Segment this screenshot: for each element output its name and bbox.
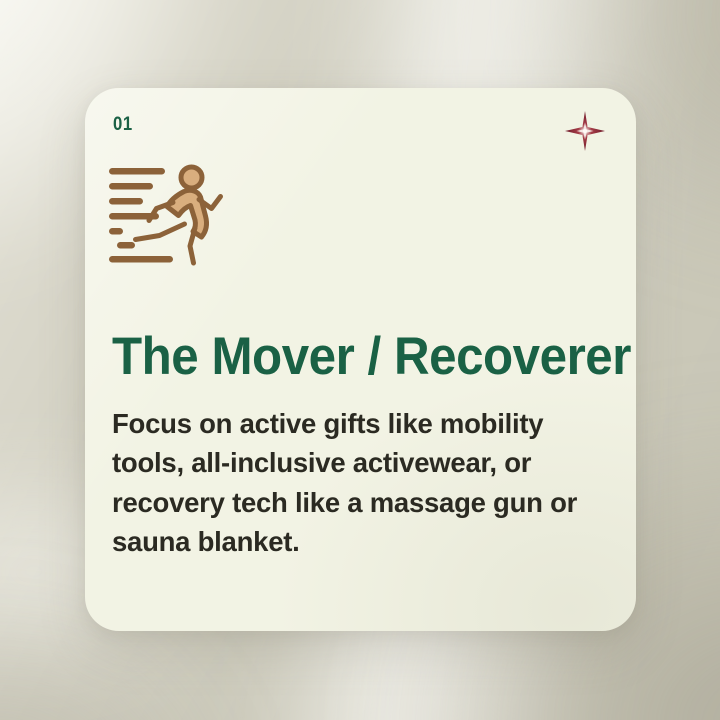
card-headline: The Mover / Recoverer [112, 330, 577, 383]
card-index-number: 01 [113, 114, 133, 136]
running-person-icon [107, 164, 233, 268]
card-inner: 01 [85, 88, 636, 631]
card-body-text: Focus on active gifts like mobility tool… [112, 404, 612, 562]
speed-lines [109, 168, 173, 263]
compass-star-icon [564, 110, 606, 152]
content-card: 01 [85, 88, 636, 631]
